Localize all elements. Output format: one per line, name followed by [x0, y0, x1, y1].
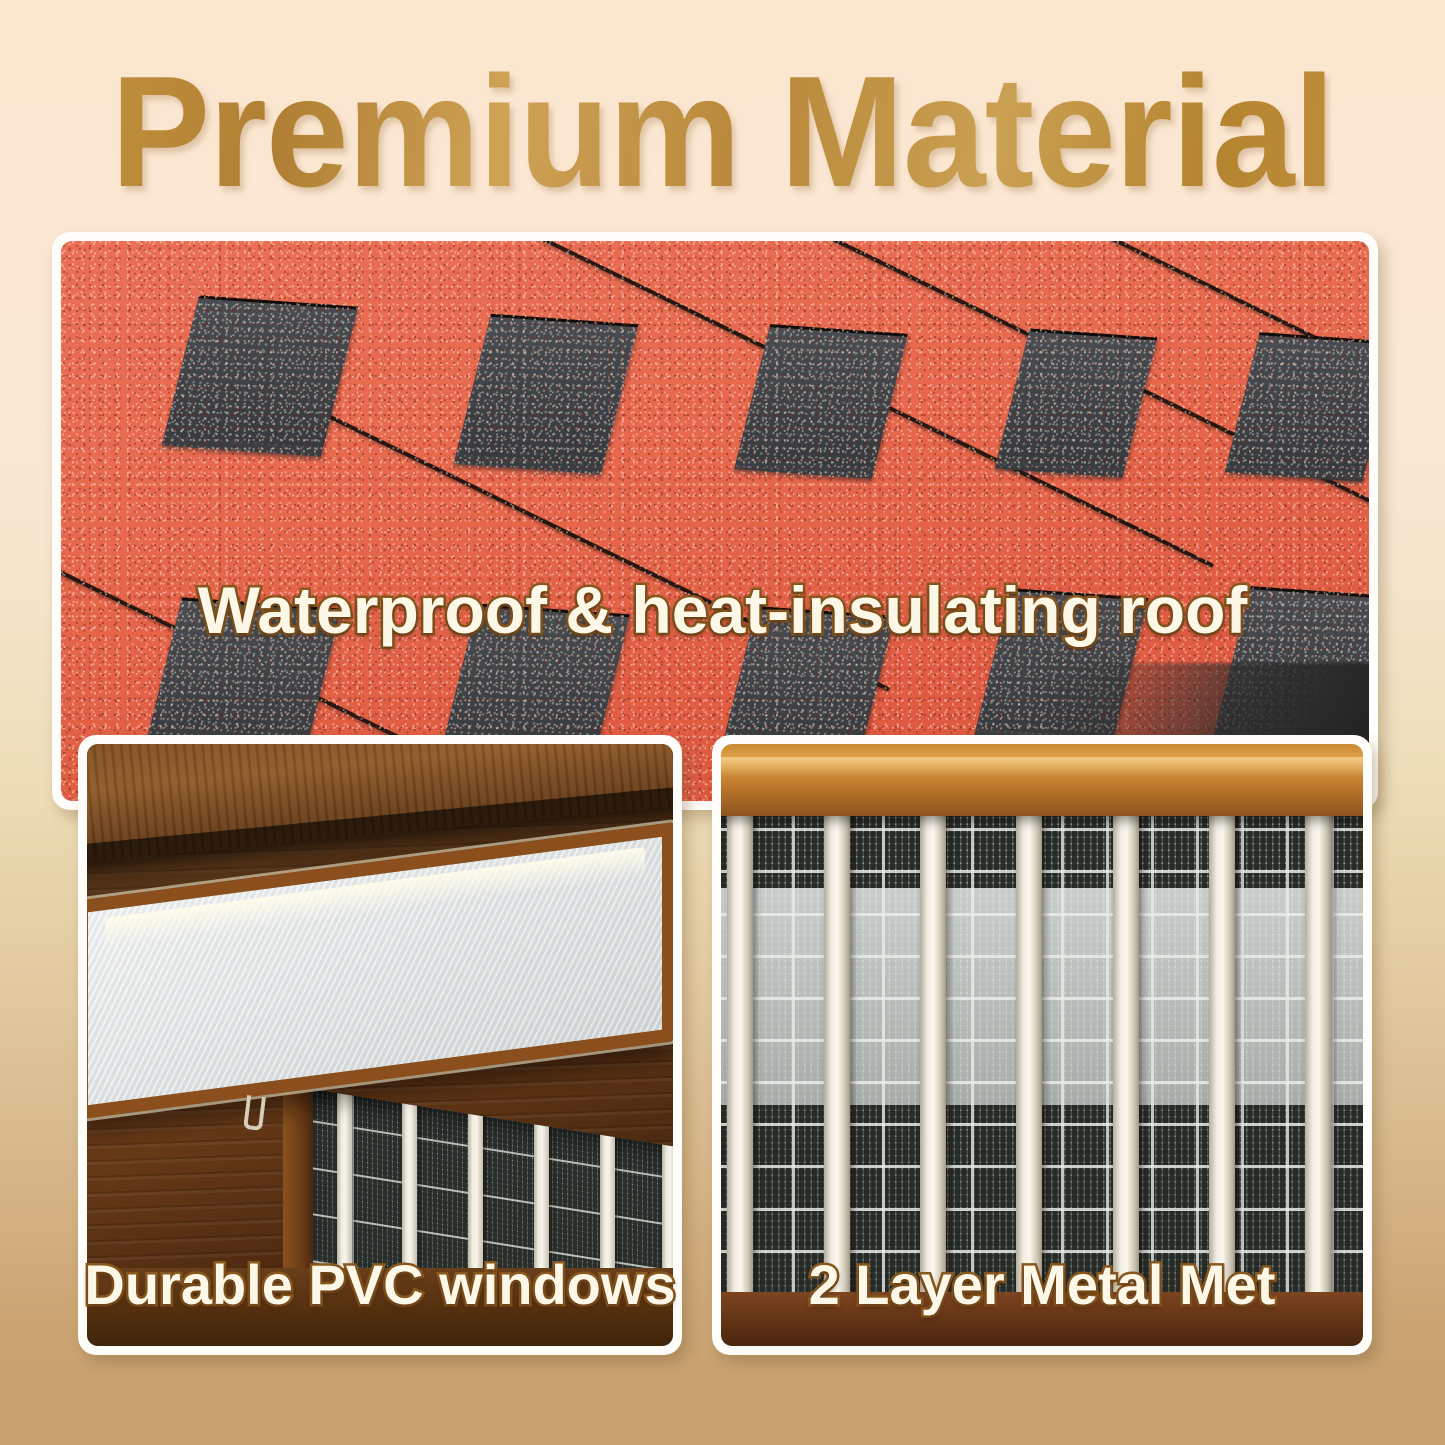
roof-shingles-panel — [52, 232, 1378, 810]
promo-banner: Premium Material — [0, 0, 1445, 1445]
wood-top-rail — [721, 744, 1363, 816]
roof-shingles-photo — [61, 241, 1369, 801]
caption-mesh: 2 Layer Metal Met — [712, 1252, 1372, 1317]
caption-pvc: Durable PVC windows — [78, 1252, 682, 1317]
caption-roof: Waterproof & heat-insulating roof — [0, 572, 1445, 648]
page-title: Premium Material — [43, 52, 1401, 217]
